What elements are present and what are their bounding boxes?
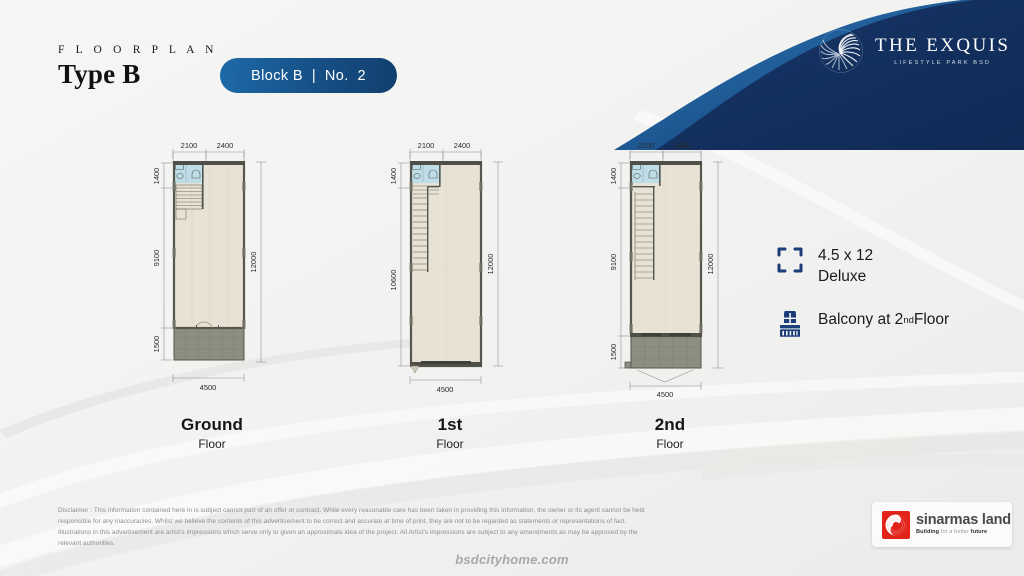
disclaimer-line-1: Disclaimer : This information contained … bbox=[58, 505, 818, 516]
dim-bottom: 4500 bbox=[657, 390, 674, 399]
partner-logo-name: sinarmas land bbox=[916, 513, 1011, 528]
floor-caption-second: 2nd Floor bbox=[590, 415, 750, 451]
feature-item-balcony: Balcony at 2nd Floor bbox=[775, 311, 949, 341]
feature-size-line2: Deluxe bbox=[818, 267, 873, 288]
page-title-block: F L O O R P L A N Type B bbox=[58, 44, 218, 90]
dim-left-top: 1400 bbox=[609, 168, 618, 185]
dim-top-right: 2400 bbox=[454, 141, 471, 150]
floorplan-second[interactable]: 2100 2400 1400 9100 1500 bbox=[597, 130, 777, 400]
brand-subtitle: LIFESTYLE PARK BSD bbox=[894, 60, 991, 66]
partner-logo-card: sinarmas land Building for a better futu… bbox=[872, 502, 1012, 547]
floor-caption-first: 1st Floor bbox=[370, 415, 530, 451]
dim-top-left: 2100 bbox=[638, 141, 655, 150]
disclaimer-line-3: Illustrations in this advertisement are … bbox=[58, 527, 818, 538]
brand-lockup: THE EXQUIS LIFESTYLE PARK BSD bbox=[818, 28, 1010, 74]
feature-list: 4.5 x 12 Deluxe bbox=[775, 245, 949, 365]
floor-caption-ground: Ground Floor bbox=[132, 415, 292, 451]
floor-caption-main: 1st bbox=[370, 415, 530, 435]
slide-canvas: F L O O R P L A N Type B Block B | No. 2 bbox=[0, 0, 1024, 576]
dim-left-top: 1400 bbox=[389, 168, 398, 185]
dim-top-right: 2400 bbox=[674, 141, 691, 150]
sinarmas-swirl-icon bbox=[882, 511, 910, 539]
dim-bottom: 4500 bbox=[200, 383, 217, 392]
floor-caption-sub: Floor bbox=[370, 437, 530, 451]
partner-tagline-part3: future bbox=[971, 529, 987, 535]
partner-tagline-part2: for a better bbox=[939, 529, 971, 535]
feature-size-line1: 4.5 x 12 bbox=[818, 247, 873, 264]
feature-text-size: 4.5 x 12 Deluxe bbox=[818, 245, 873, 287]
footer-url[interactable]: bsdcityhome.com bbox=[0, 552, 1024, 567]
brand-name: THE EXQUIS bbox=[875, 36, 1010, 55]
plan-body-first bbox=[410, 161, 483, 373]
header-wave-graphic bbox=[594, 0, 1024, 150]
dim-left-bottom: 1500 bbox=[152, 336, 161, 353]
dim-bottom: 4500 bbox=[437, 385, 454, 394]
plan-body-second bbox=[625, 161, 702, 368]
partner-logo-tagline: Building for a better future bbox=[916, 530, 1011, 536]
dim-left-mid: 9100 bbox=[609, 254, 618, 271]
dim-left-top: 1400 bbox=[152, 168, 161, 185]
feature-balcony-superscript: nd bbox=[903, 315, 914, 326]
block-unit-badge[interactable]: Block B | No. 2 bbox=[220, 58, 397, 93]
feature-balcony-text-after: Floor bbox=[914, 311, 949, 329]
partner-tagline-part1: Building bbox=[916, 529, 939, 535]
disclaimer: Disclaimer : This information contained … bbox=[58, 505, 818, 549]
feature-item-size: 4.5 x 12 Deluxe bbox=[775, 245, 949, 287]
dim-left-mid: 9100 bbox=[152, 250, 161, 267]
disclaimer-line-2: responsible for any inaccuracies. Whilst… bbox=[58, 516, 818, 527]
dim-left-mid: 10600 bbox=[389, 270, 398, 291]
dim-top-right: 2400 bbox=[217, 141, 234, 150]
feature-balcony-text-before: Balcony at 2 bbox=[818, 311, 903, 329]
dim-right: 12000 bbox=[249, 252, 258, 273]
plan-body-ground bbox=[173, 161, 246, 360]
floor-caption-main: Ground bbox=[132, 415, 292, 435]
floor-caption-sub: Floor bbox=[132, 437, 292, 451]
dim-top-left: 2100 bbox=[181, 141, 198, 150]
dim-top-left: 2100 bbox=[418, 141, 435, 150]
floorplan-ground[interactable]: 2100 2400 1400 9100 1500 bbox=[140, 130, 320, 400]
floor-caption-sub: Floor bbox=[590, 437, 750, 451]
disclaimer-line-4: relevant authorities. bbox=[58, 538, 818, 549]
floor-caption-main: 2nd bbox=[590, 415, 750, 435]
frame-corners-icon bbox=[775, 245, 805, 275]
floorplan-first[interactable]: 2100 2400 1400 10600 12 bbox=[377, 130, 557, 400]
block-unit-label: Block B | No. 2 bbox=[251, 68, 366, 84]
feature-text-balcony: Balcony at 2nd Floor bbox=[818, 311, 949, 329]
exquis-swirl-logo-icon bbox=[818, 28, 864, 74]
balcony-icon bbox=[775, 311, 805, 341]
dim-right: 12000 bbox=[706, 254, 715, 275]
page-kicker: F L O O R P L A N bbox=[58, 44, 218, 56]
dim-left-bottom: 1500 bbox=[609, 344, 618, 361]
dim-right: 12000 bbox=[486, 254, 495, 275]
page-title: Type B bbox=[58, 59, 218, 90]
